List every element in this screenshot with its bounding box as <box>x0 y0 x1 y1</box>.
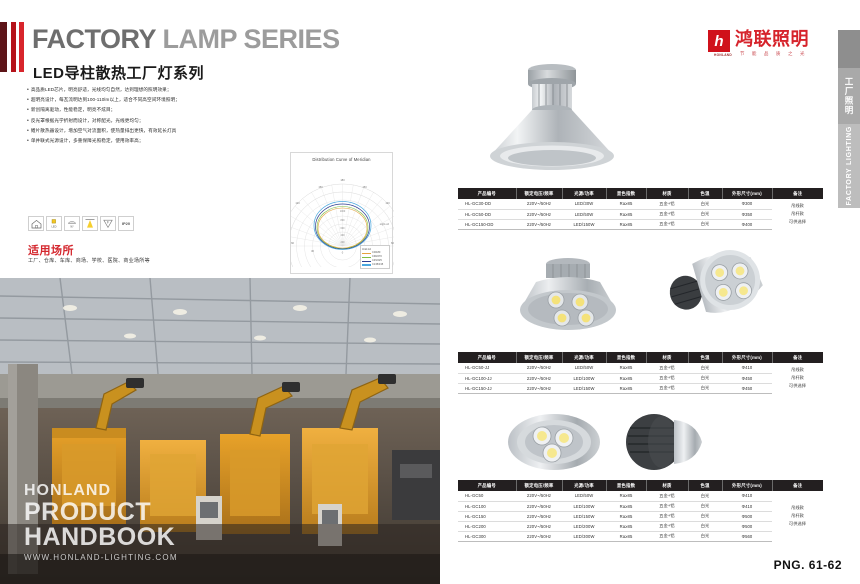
th-voltage: 额定电压/频率 <box>516 188 562 199</box>
note-line: 可供选择 <box>772 520 823 528</box>
table-row: HL-GC50-JJ 220V~/50Hz LED/50W Ra≥85 五金+铝… <box>458 363 823 373</box>
th-voltage: 额定电压/频率 <box>516 352 562 363</box>
photo-website: WWW.HONLAND-LIGHTING.COM <box>24 553 178 562</box>
svg-text:120: 120 <box>295 201 300 205</box>
cell-source: LED/50W <box>562 491 606 501</box>
left-column: FACTORY LAMP SERIES LED导柱散热工厂灯系列 高品质LED芯… <box>0 0 440 584</box>
section-side-tab: 工厂照明 FACTORY LIGHTING <box>838 30 860 208</box>
cell-cri: Ra≥85 <box>606 209 646 219</box>
chart-credit: Light-cd <box>380 223 389 226</box>
cell-voltage: 220V~/50Hz <box>516 383 562 393</box>
cell-cri: Ra≥85 <box>606 491 646 501</box>
svg-text:F: F <box>107 221 109 225</box>
cell-cct: 白光 <box>688 531 722 541</box>
led-chip-icon: LED <box>46 216 62 231</box>
cell-size: Φ500 <box>722 511 772 521</box>
side-tab-cn: 工厂照明 <box>838 68 860 124</box>
cell-source: LED/50W <box>562 209 606 219</box>
cell-size: Φ410 <box>722 363 772 373</box>
cell-cct: 白光 <box>688 511 722 521</box>
cell-cri: Ra≥85 <box>606 531 646 541</box>
cell-cct: 白光 <box>688 209 722 219</box>
note-line: 吊杆款 <box>772 210 823 218</box>
table-row: HL-GC50-DD 220V~/50Hz LED/50W Ra≥85 五金+铝… <box>458 209 823 219</box>
note-line: 吊杆款 <box>772 374 823 382</box>
cell-cct: 白光 <box>688 199 722 209</box>
cell-model: HL-GC150 <box>458 511 516 521</box>
list-item: 超明亮设计，每瓦流明达到100-110lm以上，适合不同高空间环境照明； <box>27 98 257 103</box>
cell-source: LED/300W <box>562 531 606 541</box>
page-subtitle: LED导柱散热工厂灯系列 <box>33 62 204 83</box>
spec-table-3: 产品编号 额定电压/频率 光源/功率 显色指数 材质 色温 外形尺寸(mm) 备… <box>458 480 823 542</box>
svg-text:LED: LED <box>51 224 56 228</box>
note-line: 吊杆款 <box>772 512 823 520</box>
side-tab-en: FACTORY LIGHTING <box>838 124 860 208</box>
th-size: 外形尺寸(mm) <box>722 480 772 491</box>
cell-source: LED/200W <box>562 521 606 531</box>
svg-text:30: 30 <box>311 249 314 253</box>
cell-source: LED/100W <box>562 501 606 511</box>
cell-voltage: 220V~/50Hz <box>516 491 562 501</box>
cell-material: 五金+铝 <box>646 373 688 383</box>
svg-text:150: 150 <box>318 185 323 189</box>
svg-text:180: 180 <box>340 178 345 182</box>
cell-material: 五金+铝 <box>646 199 688 209</box>
table-row: HL-GC150-DD 220V~/50Hz LED/150W Ra≥85 五金… <box>458 219 823 229</box>
factory-photo: HONLAND PRODUCT HANDBOOK WWW.HONLAND-LIG… <box>0 278 440 584</box>
th-cct: 色温 <box>688 352 722 363</box>
chart-legend: Unit:cd C0/180 C90/270 C45/225 C135/315 <box>360 245 390 269</box>
table: 产品编号 额定电压/频率 光源/功率 显色指数 材质 色温 外形尺寸(mm) 备… <box>458 480 823 542</box>
cell-source: LED/150W <box>562 219 606 229</box>
house-icon <box>28 216 44 231</box>
page-title-light: LAMP SERIES <box>156 24 340 54</box>
th-voltage: 额定电压/频率 <box>516 480 562 491</box>
f-triangle-icon: F <box>100 216 116 231</box>
table-header-row: 产品编号 额定电压/频率 光源/功率 显色指数 材质 色温 外形尺寸(mm) 备… <box>458 188 823 199</box>
th-cri: 显色指数 <box>606 188 646 199</box>
th-model: 产品编号 <box>458 480 516 491</box>
table-row: HL-GC30-DD 220V~/50Hz LED/30W Ra≥85 五金+铝… <box>458 199 823 209</box>
brand-name-cn: 鸿联照明 <box>735 30 809 48</box>
th-source: 光源/功率 <box>562 352 606 363</box>
cell-size: Φ560 <box>722 531 772 541</box>
product-image-3 <box>458 408 818 478</box>
th-note: 备注 <box>772 480 823 491</box>
logo-mark-letter: h <box>714 34 723 49</box>
cell-note: 吊线款 吊杆款 可供选择 <box>772 199 823 229</box>
cell-material: 五金+铝 <box>646 383 688 393</box>
svg-text:90°: 90° <box>70 226 74 229</box>
legend-label: C135/315 <box>372 263 383 267</box>
table-header-row: 产品编号 额定电压/频率 光源/功率 显色指数 材质 色温 外形尺寸(mm) 备… <box>458 480 823 491</box>
list-item: 高品质LED芯片，明亮舒适，光线均匀自然，达到理想的照明效果； <box>27 88 257 93</box>
cell-model: HL-GC150-JJ <box>458 383 516 393</box>
brand-logo: h HONLAND 鸿联照明 节 能 品 质 之 光 <box>708 30 809 52</box>
svg-text:0: 0 <box>342 251 344 255</box>
note-line: 吊线款 <box>772 366 823 374</box>
cell-cct: 白光 <box>688 383 722 393</box>
cell-size: Φ450 <box>722 383 772 393</box>
th-material: 材质 <box>646 188 688 199</box>
side-tab-en-label: FACTORY LIGHTING <box>846 126 853 206</box>
th-cct: 色温 <box>688 188 722 199</box>
distribution-chart: Distribution Curve of Meridian <box>290 152 393 274</box>
photo-line-product: PRODUCT <box>24 500 178 525</box>
table-row: HL-GC200 220V~/50Hz LED/200W Ra≥85 五金+铝 … <box>458 521 823 531</box>
cell-model: HL-GC200 <box>458 521 516 531</box>
cell-cct: 白光 <box>688 501 722 511</box>
cell-size: Φ500 <box>722 521 772 531</box>
cell-material: 五金+铝 <box>646 491 688 501</box>
cell-model: HL-GC100-JJ <box>458 373 516 383</box>
ip-rating-label: IP20 <box>122 221 130 226</box>
product-image-2 <box>458 248 818 348</box>
ip-rating-icon: IP20 <box>118 216 134 231</box>
product-image-2-art <box>458 248 818 348</box>
spec-icon-strip: LED 90° F <box>28 216 134 231</box>
cell-cct: 白光 <box>688 521 722 531</box>
list-item: 鳍片散热器设计，增加空气对流面积，使热量排出更快，有效延长灯具 <box>27 129 257 134</box>
th-cri: 显色指数 <box>606 352 646 363</box>
svg-text:150: 150 <box>362 185 367 189</box>
cell-cri: Ra≥85 <box>606 383 646 393</box>
th-material: 材质 <box>646 352 688 363</box>
cell-source: LED/100W <box>562 373 606 383</box>
cell-voltage: 220V~/50Hz <box>516 219 562 229</box>
cell-cri: Ra≥85 <box>606 219 646 229</box>
note-line: 可供选择 <box>772 218 823 226</box>
page-title: FACTORY LAMP SERIES <box>32 24 340 55</box>
cell-cct: 白光 <box>688 373 722 383</box>
cell-cct: 白光 <box>688 491 722 501</box>
cell-voltage: 220V~/50Hz <box>516 363 562 373</box>
cell-model: HL-GC100 <box>458 501 516 511</box>
cell-voltage: 220V~/50Hz <box>516 531 562 541</box>
th-cct: 色温 <box>688 480 722 491</box>
svg-text:800: 800 <box>341 219 346 222</box>
lamp-icon: 90° <box>64 216 80 231</box>
cell-material: 五金+铝 <box>646 501 688 511</box>
cell-note: 吊线款 吊杆款 可供选择 <box>772 363 823 393</box>
svg-text:1000: 1000 <box>340 210 346 213</box>
side-tab-cn-label: 工厂照明 <box>843 77 855 115</box>
cell-cri: Ra≥85 <box>606 363 646 373</box>
title-accent-bars <box>0 22 24 72</box>
table-row: HL-GC150-JJ 220V~/50Hz LED/150W Ra≥85 五金… <box>458 383 823 393</box>
note-line: 吊线款 <box>772 202 823 210</box>
cell-voltage: 220V~/50Hz <box>516 521 562 531</box>
cell-cct: 白光 <box>688 219 722 229</box>
spec-table-1: 产品编号 额定电压/频率 光源/功率 显色指数 材质 色温 外形尺寸(mm) 备… <box>458 188 823 230</box>
cell-cri: Ra≥85 <box>606 521 646 531</box>
page-title-strong: FACTORY <box>32 24 156 54</box>
table-row: HL-GC150 220V~/50Hz LED/150W Ra≥85 五金+铝 … <box>458 511 823 521</box>
th-note: 备注 <box>772 188 823 199</box>
cell-voltage: 220V~/50Hz <box>516 209 562 219</box>
product-image-1 <box>460 52 820 182</box>
th-note: 备注 <box>772 352 823 363</box>
right-column: h HONLAND 鸿联照明 节 能 品 质 之 光 工厂照明 FACTORY … <box>440 0 860 584</box>
table: 产品编号 额定电压/频率 光源/功率 显色指数 材质 色温 外形尺寸(mm) 备… <box>458 352 823 394</box>
svg-text:120: 120 <box>385 201 390 205</box>
th-cri: 显色指数 <box>606 480 646 491</box>
cell-voltage: 220V~/50Hz <box>516 373 562 383</box>
cell-model: HL-GC300 <box>458 531 516 541</box>
th-model: 产品编号 <box>458 352 516 363</box>
cell-source: LED/150W <box>562 383 606 393</box>
cell-voltage: 220V~/50Hz <box>516 199 562 209</box>
cell-size: Φ450 <box>722 373 772 383</box>
th-source: 光源/功率 <box>562 480 606 491</box>
scene-description: 工厂、仓库、车库、商场、学校、医院、商业场所等 <box>28 257 150 264</box>
cell-size: Φ410 <box>722 501 772 511</box>
svg-text:600: 600 <box>341 227 346 230</box>
cell-cri: Ra≥85 <box>606 511 646 521</box>
table-row: HL-GC300 220V~/50Hz LED/300W Ra≥85 五金+铝 … <box>458 531 823 541</box>
product-image-1-art <box>460 52 820 182</box>
legend-item: C135/315 <box>362 263 388 267</box>
cell-cri: Ra≥85 <box>606 501 646 511</box>
cell-material: 五金+铝 <box>646 531 688 541</box>
photo-caption: HONLAND PRODUCT HANDBOOK WWW.HONLAND-LIG… <box>24 483 178 562</box>
catalog-page: FACTORY LAMP SERIES LED导柱散热工厂灯系列 高品质LED芯… <box>0 0 860 584</box>
svg-text:400: 400 <box>341 234 346 237</box>
spec-table-2: 产品编号 额定电压/频率 光源/功率 显色指数 材质 色温 外形尺寸(mm) 备… <box>458 352 823 394</box>
cell-source: LED/30W <box>562 199 606 209</box>
cell-voltage: 220V~/50Hz <box>516 511 562 521</box>
th-size: 外形尺寸(mm) <box>722 352 772 363</box>
note-line: 可供选择 <box>772 382 823 390</box>
svg-text:60: 60 <box>291 241 294 245</box>
cell-cct: 白光 <box>688 363 722 373</box>
svg-text:200: 200 <box>341 241 346 244</box>
side-tab-top-block <box>838 30 860 68</box>
th-size: 外形尺寸(mm) <box>722 188 772 199</box>
cell-model: HL-GC50 <box>458 491 516 501</box>
photo-line-handbook: HANDBOOK <box>24 525 178 550</box>
cell-voltage: 220V~/50Hz <box>516 501 562 511</box>
product-image-3-art <box>458 408 818 478</box>
table-header-row: 产品编号 额定电压/频率 光源/功率 显色指数 材质 色温 外形尺寸(mm) 备… <box>458 352 823 363</box>
cell-material: 五金+铝 <box>646 521 688 531</box>
note-line: 吊线款 <box>772 504 823 512</box>
cell-model: HL-GC50-JJ <box>458 363 516 373</box>
table-row: HL-GC100 220V~/50Hz LED/100W Ra≥85 五金+铝 … <box>458 501 823 511</box>
cell-cri: Ra≥85 <box>606 373 646 383</box>
th-material: 材质 <box>646 480 688 491</box>
cell-note: 吊线款 吊杆款 可供选择 <box>772 491 823 541</box>
scene-heading: 适用场所 <box>28 242 74 258</box>
svg-text:60: 60 <box>391 241 394 245</box>
cell-material: 五金+铝 <box>646 363 688 373</box>
cell-model: HL-GC50-DD <box>458 209 516 219</box>
cell-source: LED/50W <box>562 363 606 373</box>
logo-mark-icon: h HONLAND <box>708 30 730 52</box>
cell-material: 五金+铝 <box>646 209 688 219</box>
cell-material: 五金+铝 <box>646 219 688 229</box>
list-item: 单并联式光源设计，多重保障光照稳定，使用效率高； <box>27 139 257 144</box>
cell-source: LED/150W <box>562 511 606 521</box>
page-number: PNG. 61-62 <box>774 558 842 572</box>
cell-size: Φ400 <box>722 219 772 229</box>
cell-cri: Ra≥85 <box>606 199 646 209</box>
cell-size: Φ410 <box>722 491 772 501</box>
list-item: 新创隔离驱动，性能稳定，明亮不炫目； <box>27 108 257 113</box>
cell-model: HL-GC30-DD <box>458 199 516 209</box>
th-source: 光源/功率 <box>562 188 606 199</box>
cell-size: Φ300 <box>722 199 772 209</box>
light-beam-icon <box>82 216 98 231</box>
table-row: HL-GC100-JJ 220V~/50Hz LED/100W Ra≥85 五金… <box>458 373 823 383</box>
table-row: HL-GC50 220V~/50Hz LED/50W Ra≥85 五金+铝 白光… <box>458 491 823 501</box>
th-model: 产品编号 <box>458 188 516 199</box>
cell-model: HL-GC150-DD <box>458 219 516 229</box>
cell-size: Φ350 <box>722 209 772 219</box>
list-item: 反光罩根据光学折射而设计，对称配光，光线更均匀； <box>27 119 257 124</box>
feature-list: 高品质LED芯片，明亮舒适，光线均匀自然，达到理想的照明效果； 超明亮设计，每瓦… <box>27 88 257 149</box>
table: 产品编号 额定电压/频率 光源/功率 显色指数 材质 色温 外形尺寸(mm) 备… <box>458 188 823 230</box>
cell-material: 五金+铝 <box>646 511 688 521</box>
